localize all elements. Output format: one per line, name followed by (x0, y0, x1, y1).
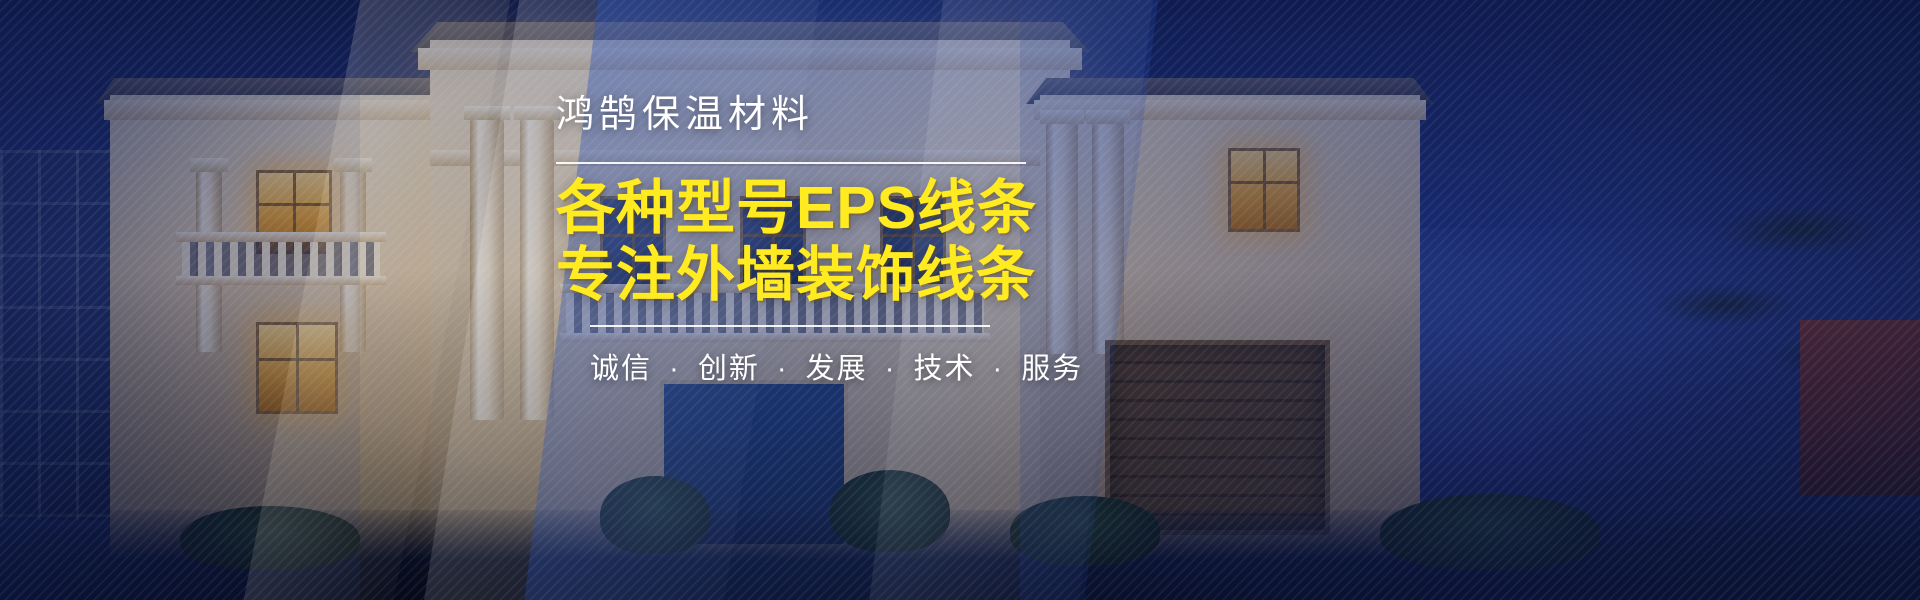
brand-name: 鸿鹄保温材料 (556, 96, 1026, 136)
promo-banner: 鸿鹄保温材料 各种型号EPS线条 专注外墙装饰线条 诚信 · 创新 · 发展 ·… (0, 0, 1920, 600)
divider-rule-bottom (590, 325, 990, 327)
tagline-item: 诚信 (590, 353, 652, 385)
banner-copy: 鸿鹄保温材料 各种型号EPS线条 专注外墙装饰线条 诚信 · 创新 · 发展 ·… (556, 96, 1026, 387)
tagline-separator: · (986, 353, 1012, 385)
divider-rule-top (556, 162, 1026, 164)
tagline-item: 技术 (913, 353, 975, 385)
tagline-item: 服务 (1021, 353, 1083, 385)
tagline: 诚信 · 创新 · 发展 · 技术 · 服务 (590, 345, 1026, 387)
headline-line-2: 专注外墙装饰线条 (556, 245, 1026, 306)
tagline-item: 发展 (806, 353, 868, 385)
headline: 各种型号EPS线条 专注外墙装饰线条 (556, 178, 1026, 306)
headline-line-1: 各种型号EPS线条 (556, 178, 1026, 239)
tagline-item: 创新 (698, 353, 760, 385)
tagline-separator: · (770, 353, 796, 385)
tagline-separator: · (878, 353, 904, 385)
tagline-separator: · (662, 353, 688, 385)
